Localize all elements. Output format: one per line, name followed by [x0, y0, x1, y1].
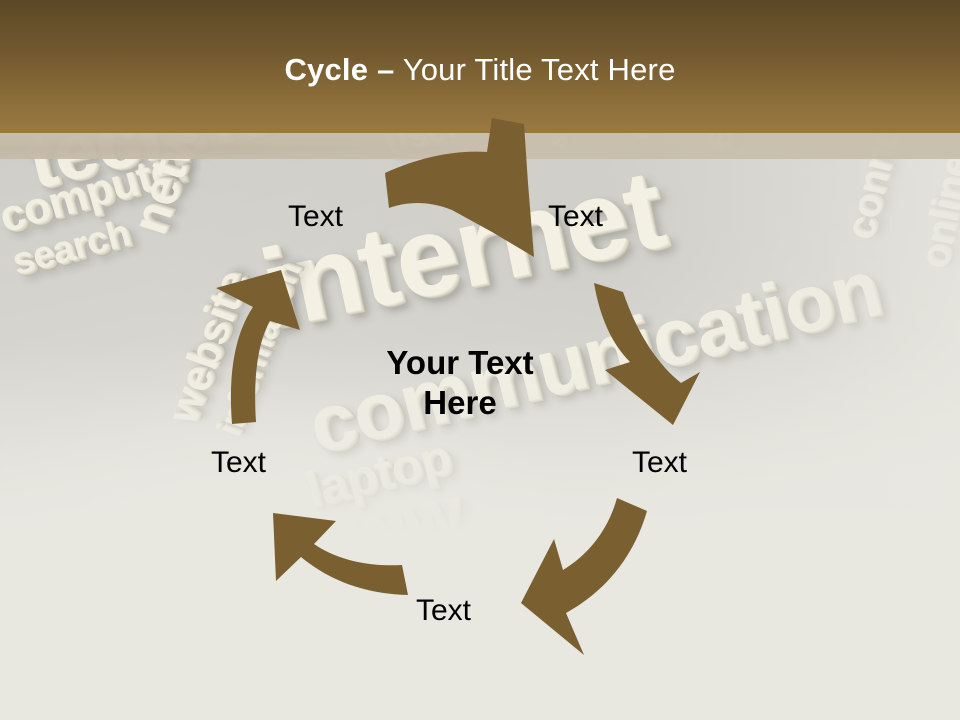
page-title: Cycle – Your Title Text Here	[0, 52, 960, 88]
background-word-cloud-image: technologycomputersearchusersunet wemail…	[0, 133, 960, 533]
cycle-label-mid-right[interactable]: Text	[632, 446, 687, 480]
center-text-line-2: Here	[320, 383, 600, 423]
cycle-label-bottom[interactable]: Text	[416, 594, 471, 628]
page-title-rest: Your Title Text Here	[394, 52, 675, 87]
cycle-label-mid-left[interactable]: Text	[211, 446, 266, 480]
image-right-fade	[0, 133, 960, 533]
cycle-label-top-right[interactable]: Text	[548, 200, 603, 234]
header-underband-fade	[0, 133, 960, 159]
header-underband	[0, 133, 960, 159]
cycle-label-top-left[interactable]: Text	[288, 200, 343, 234]
page-title-strong: Cycle –	[284, 52, 394, 87]
center-text-block[interactable]: Your Text Here	[320, 343, 600, 424]
center-text-line-1: Your Text	[320, 343, 600, 383]
slide-header-bar: Cycle – Your Title Text Here	[0, 0, 960, 133]
slide-canvas: technologycomputersearchusersunet wemail…	[0, 0, 960, 720]
